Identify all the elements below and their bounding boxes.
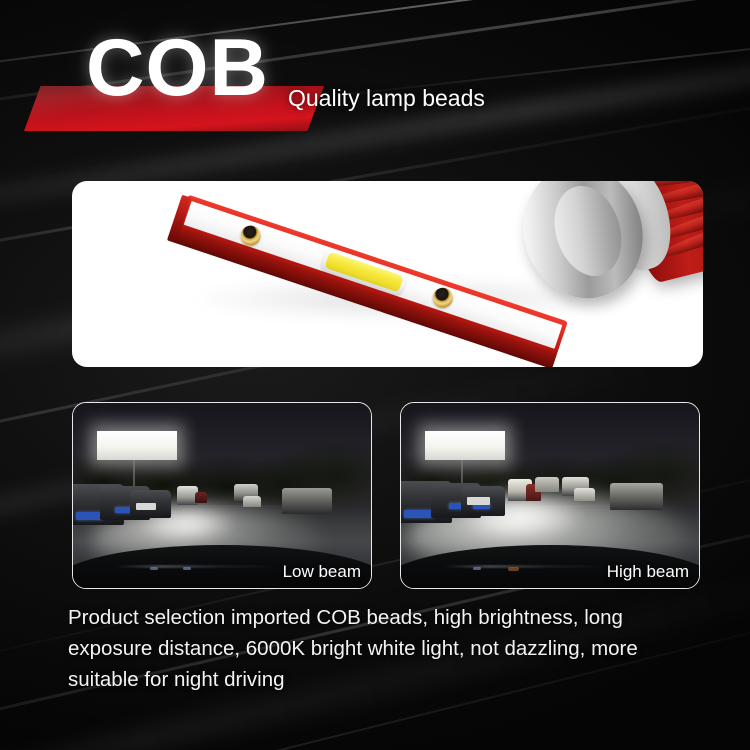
low-beam-label: Low beam [283, 562, 361, 582]
product-description: Product selection imported COB beads, hi… [68, 602, 694, 695]
header: COB Quality lamp beads [0, 0, 750, 170]
billboard-light [425, 431, 505, 461]
page-subtitle: Quality lamp beads [288, 85, 485, 112]
parked-hatchback [610, 483, 664, 511]
distant-car [195, 492, 207, 503]
hood-reflection-dot [183, 567, 191, 570]
license-plate [404, 510, 434, 518]
hood-reflection-amber [508, 567, 519, 571]
low-beam-photo: Low beam [72, 402, 372, 589]
high-beam-label: High beam [607, 562, 689, 582]
hood-reflection [443, 565, 610, 568]
product-marketing-image: COB Quality lamp beads [0, 0, 750, 750]
product-panel [72, 181, 703, 367]
distant-shed [535, 477, 559, 492]
car-highlight [467, 497, 491, 504]
hood-reflection [115, 565, 282, 568]
car-highlight [136, 503, 157, 510]
page-title: COB [86, 28, 269, 109]
billboard-pole [133, 460, 135, 488]
hood-reflection-dot [150, 567, 158, 570]
parked-hatchback [282, 488, 333, 514]
license-plate [76, 512, 103, 519]
high-beam-photo: High beam [400, 402, 700, 589]
distant-car [574, 488, 595, 501]
billboard-light [97, 431, 177, 461]
distant-car [243, 496, 261, 507]
hood-reflection-dot [473, 567, 481, 570]
